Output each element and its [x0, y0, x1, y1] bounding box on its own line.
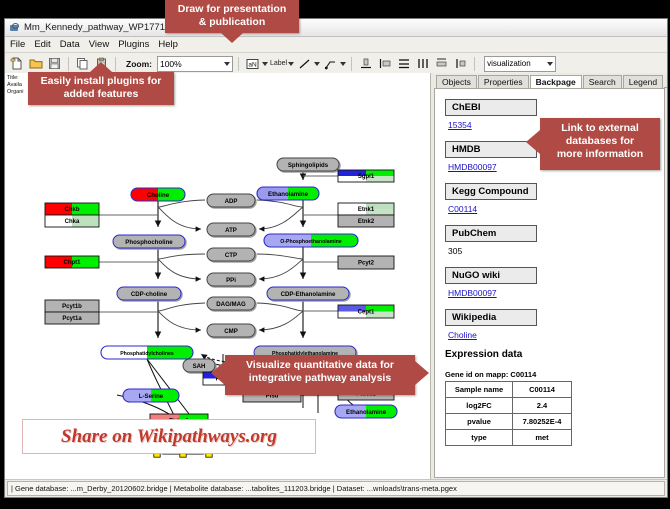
- chevron-down-icon: [288, 62, 294, 66]
- callout-plugins: Easily install plugins for added feature…: [28, 72, 174, 105]
- pathway-node[interactable]: CDP-choline: [117, 287, 181, 300]
- menu-item-edit[interactable]: Edit: [34, 39, 50, 50]
- pathway-node[interactable]: CTP: [207, 248, 255, 261]
- datanode-tool[interactable]: aN: [244, 55, 268, 72]
- pathway-node[interactable]: Choline: [131, 188, 185, 201]
- toolbar-separator-5: [474, 57, 475, 71]
- pathway-meta-availability: Availa: [7, 82, 24, 89]
- svg-text:PPi: PPi: [226, 277, 236, 284]
- db-link-wikipedia[interactable]: Choline: [448, 330, 654, 340]
- chevron-down-icon: [340, 62, 346, 66]
- callout-plugins-arrow: [90, 62, 112, 72]
- callout-links-line2: databases for: [540, 135, 660, 148]
- svg-text:CTP: CTP: [225, 252, 237, 259]
- tab-properties[interactable]: Properties: [478, 75, 529, 88]
- pathway-node[interactable]: DAG/MAG: [207, 297, 255, 310]
- pathway-node[interactable]: CMP: [207, 324, 255, 337]
- expr-val-0: C00114: [513, 382, 572, 398]
- pathway-node[interactable]: PPi: [207, 273, 255, 286]
- db-value-pubchem: 305: [448, 246, 654, 256]
- svg-text:aN: aN: [248, 61, 257, 68]
- svg-text:Pcyt2: Pcyt2: [358, 261, 375, 267]
- label-tool-label: Label: [270, 60, 287, 67]
- gene-id-label: Gene id on mapp: C00114: [445, 370, 654, 379]
- svg-text:Ethanolamine: Ethanolamine: [268, 191, 309, 198]
- callout-links-line1: Link to external: [540, 122, 660, 135]
- callout-visualize-line1: Visualize quantitative data for: [225, 359, 415, 372]
- table-row: type met: [446, 430, 572, 446]
- pathway-node[interactable]: Ethanolamine: [335, 405, 397, 418]
- toolbar-separator-4: [351, 57, 352, 71]
- svg-text:Phosphocholine: Phosphocholine: [125, 239, 173, 246]
- pathway-gene-node[interactable]: Chpt1: [45, 256, 99, 268]
- callout-links-arrow: [526, 130, 540, 154]
- pathway-meta-organism: Organi: [7, 89, 24, 96]
- callout-plugins-line1: Easily install plugins for: [28, 75, 174, 88]
- line-tool[interactable]: [296, 55, 320, 72]
- expr-val-1: 2.4: [513, 398, 572, 414]
- svg-text:Etnk1: Etnk1: [358, 207, 375, 213]
- db-header-nugo: NuGO wiki: [445, 267, 537, 284]
- label-tool[interactable]: Label: [270, 60, 294, 67]
- share-banner-text: Share on Wikipathways.org: [61, 426, 277, 448]
- db-header-wikipedia: Wikipedia: [445, 309, 537, 326]
- db-link-nugo[interactable]: HMDB00097: [448, 288, 654, 298]
- side-panel-tabs: Objects Properties Backpage Search Legen…: [431, 73, 667, 88]
- svg-text:CDP-Ethanolamine: CDP-Ethanolamine: [281, 291, 336, 298]
- open-folder-icon[interactable]: [27, 55, 44, 72]
- tab-search[interactable]: Search: [583, 75, 622, 88]
- svg-text:CMP: CMP: [224, 328, 238, 335]
- menu-item-file[interactable]: File: [10, 39, 25, 50]
- menu-bar: File Edit Data View Plugins Help: [5, 37, 667, 53]
- callout-visualize-line2: integrative pathway analysis: [225, 372, 415, 385]
- pathway-node[interactable]: Sphingolipids: [277, 158, 339, 171]
- menu-item-help[interactable]: Help: [158, 39, 178, 50]
- group-icon[interactable]: [452, 55, 469, 72]
- callout-links-line3: more information: [540, 148, 660, 161]
- pathway-gene-node[interactable]: Pcyt2: [338, 256, 394, 269]
- db-header-chebi: ChEBI: [445, 99, 537, 116]
- callout-links: Link to external databases for more info…: [540, 118, 660, 170]
- pathway-node[interactable]: ADP: [207, 194, 255, 207]
- zoom-combobox[interactable]: 100%: [157, 56, 233, 72]
- callout-draw: Draw for presentation & publication: [165, 0, 299, 33]
- pathway-meta: Title: Availa Organi: [7, 75, 24, 96]
- toolbar-separator-1: [68, 57, 69, 71]
- tab-backpage[interactable]: Backpage: [530, 75, 582, 89]
- status-bar: | Gene database: ...m_Derby_20120602.bri…: [5, 479, 667, 497]
- distribute-vertical-icon[interactable]: [395, 55, 412, 72]
- svg-text:Etnk2: Etnk2: [358, 219, 375, 225]
- db-header-pubchem: PubChem: [445, 225, 537, 242]
- expr-key-0: Sample name: [446, 382, 513, 398]
- zoom-value: 100%: [160, 59, 182, 69]
- align-bottom-icon[interactable]: [357, 55, 374, 72]
- text-label-icon[interactable]: aN: [244, 55, 261, 72]
- expression-data-title: Expression data: [445, 349, 654, 360]
- table-row: log2FC 2.4: [446, 398, 572, 414]
- pathway-node[interactable]: O-Phosphoethanolamine: [264, 234, 358, 247]
- tab-objects[interactable]: Objects: [436, 75, 477, 88]
- expr-key-2: pvalue: [446, 414, 513, 430]
- pathway-node[interactable]: Phosphatidylcholines: [101, 346, 193, 359]
- svg-text:ADP: ADP: [225, 198, 238, 205]
- pathway-gene-node[interactable]: ChkbChka: [45, 203, 99, 227]
- pathway-node[interactable]: L-Serine: [123, 389, 179, 402]
- svg-text:L-Serine: L-Serine: [139, 393, 164, 400]
- pathvisio-icon: [9, 22, 20, 33]
- pathway-shape-layer: SphingolipidsCholineEthanolaminePhosphoc…: [45, 158, 397, 457]
- svg-text:Sgpl1: Sgpl1: [358, 174, 375, 180]
- callout-draw-arrow: [221, 33, 243, 43]
- visualization-value: visualization: [487, 59, 531, 68]
- callout-visualize: Visualize quantitative data for integrat…: [225, 355, 415, 395]
- pathway-node[interactable]: Ethanolamine: [257, 187, 319, 200]
- callout-plugins-line2: added features: [28, 88, 174, 101]
- copy-icon[interactable]: [74, 55, 91, 72]
- chevron-down-icon: [314, 62, 320, 66]
- chevron-down-icon: [224, 62, 230, 66]
- pathway-node[interactable]: ATP: [207, 223, 255, 236]
- pathway-meta-title: Title:: [7, 75, 24, 82]
- menu-item-plugins[interactable]: Plugins: [118, 39, 149, 50]
- svg-text:Sphingolipids: Sphingolipids: [288, 162, 329, 169]
- menu-item-view[interactable]: View: [89, 39, 109, 50]
- svg-text:SAH: SAH: [193, 363, 206, 370]
- svg-text:Chkb: Chkb: [65, 207, 80, 213]
- db-header-hmdb: HMDB: [445, 141, 537, 158]
- screenshot-root: Mm_Kennedy_pathway_WP1771_45176.gpml Fil…: [0, 0, 670, 509]
- svg-text:Pcyt1a: Pcyt1a: [62, 316, 82, 322]
- pathway-gene-node[interactable]: Sgpl1: [338, 170, 394, 182]
- line-tool-icon[interactable]: [296, 55, 313, 72]
- callout-draw-line1: Draw for presentation: [165, 3, 299, 16]
- menu-item-data[interactable]: Data: [60, 39, 80, 50]
- svg-text:Cept1: Cept1: [358, 310, 375, 316]
- visualization-combobox[interactable]: visualization: [484, 56, 556, 72]
- save-icon[interactable]: [46, 55, 63, 72]
- pathway-gene-node[interactable]: Etnk1Etnk2: [338, 203, 394, 227]
- chevron-down-icon: [547, 62, 553, 66]
- title-bar: Mm_Kennedy_pathway_WP1771_45176.gpml: [5, 19, 667, 37]
- expression-table: Sample name C00114 log2FC 2.4 pvalue 7.8…: [445, 381, 572, 446]
- svg-text:Phosphatidylcholines: Phosphatidylcholines: [120, 351, 174, 357]
- pathway-gene-node[interactable]: Pcyt1bPcyt1a: [45, 300, 99, 324]
- svg-text:ATP: ATP: [225, 227, 237, 234]
- table-row: pvalue 7.80252E-4: [446, 414, 572, 430]
- distribute-horizontal-icon[interactable]: [414, 55, 431, 72]
- svg-text:Chpt1: Chpt1: [64, 260, 82, 266]
- same-width-icon[interactable]: [433, 55, 450, 72]
- db-link-kegg[interactable]: C00114: [448, 204, 654, 214]
- svg-text:Ethanolamine: Ethanolamine: [346, 409, 387, 416]
- callout-visualize-arrow-left: [211, 361, 225, 385]
- svg-text:Choline: Choline: [147, 192, 170, 199]
- svg-text:O-Phosphoethanolamine: O-Phosphoethanolamine: [280, 239, 342, 245]
- interaction-tool-icon[interactable]: [322, 55, 339, 72]
- callout-draw-line2: & publication: [165, 16, 299, 29]
- share-banner: Share on Wikipathways.org: [22, 419, 316, 454]
- tab-legend[interactable]: Legend: [623, 75, 663, 88]
- interaction-tool[interactable]: [322, 55, 346, 72]
- pathway-node[interactable]: CDP-Ethanolamine: [267, 287, 349, 300]
- expr-val-2: 7.80252E-4: [513, 414, 572, 430]
- status-text: | Gene database: ...m_Derby_20120602.bri…: [7, 481, 665, 496]
- align-left-icon[interactable]: [376, 55, 393, 72]
- callout-visualize-arrow-right: [415, 361, 429, 385]
- toolbar-separator-3: [238, 57, 239, 71]
- toolbar-separator-2: [115, 57, 116, 71]
- new-file-icon[interactable]: [8, 55, 25, 72]
- zoom-label: Zoom:: [126, 59, 152, 69]
- expr-key-1: log2FC: [446, 398, 513, 414]
- svg-text:CDP-choline: CDP-choline: [131, 291, 168, 298]
- svg-text:DAG/MAG: DAG/MAG: [216, 301, 246, 308]
- db-header-kegg: Kegg Compound: [445, 183, 537, 200]
- chevron-down-icon: [262, 62, 268, 66]
- expr-key-3: type: [446, 430, 513, 446]
- svg-text:Chka: Chka: [65, 219, 80, 225]
- pathway-gene-node[interactable]: Cept1: [338, 305, 394, 318]
- svg-text:Pcyt1b: Pcyt1b: [62, 304, 82, 310]
- pathway-node[interactable]: Phosphocholine: [113, 235, 185, 248]
- table-row: Sample name C00114: [446, 382, 572, 398]
- expr-val-3: met: [513, 430, 572, 446]
